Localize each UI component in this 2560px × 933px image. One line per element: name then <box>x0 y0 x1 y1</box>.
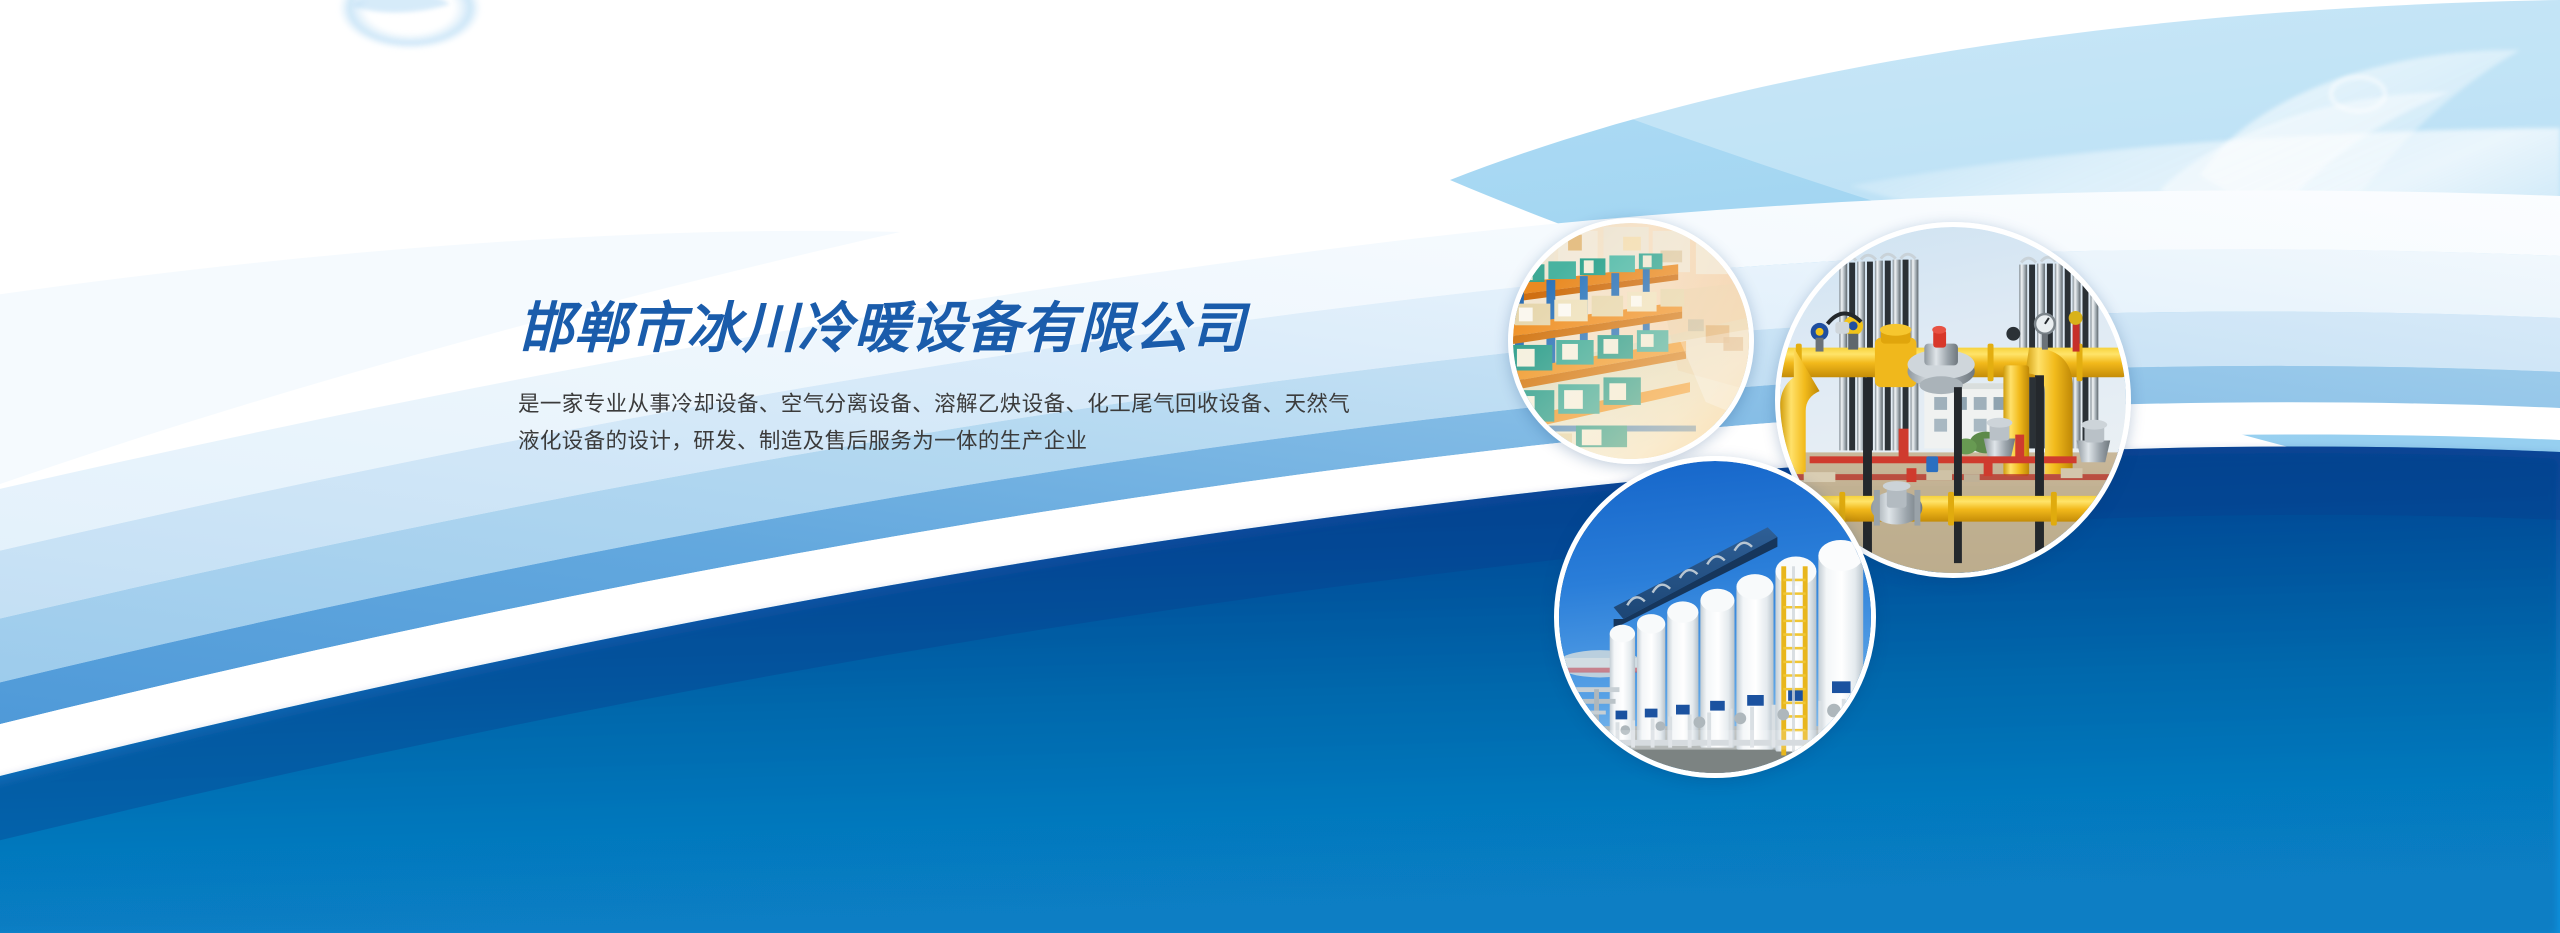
warehouse-racking-illustration <box>1513 223 1749 459</box>
cryogenic-storage-tanks-illustration <box>1559 461 1871 773</box>
support-column-3 <box>2035 375 2044 563</box>
background-wave-graphic <box>0 0 2560 933</box>
access-ladder <box>1781 566 1807 755</box>
company-description: 是一家专业从事冷却设备、空气分离设备、溶解乙炔设备、化工尾气回收设备、天然气 液… <box>518 386 1508 460</box>
company-description-line-1: 是一家专业从事冷却设备、空气分离设备、溶解乙炔设备、化工尾气回收设备、天然气 <box>518 386 1508 423</box>
photo-tanks-inner <box>1559 461 1871 773</box>
photo-warehouse-inner <box>1513 223 1749 459</box>
company-title: 邯郸市冰川冷暖设备有限公司 <box>518 300 1518 358</box>
company-description-line-2: 液化设备的设计，研发、制造及售后服务为一体的生产企业 <box>518 423 1508 460</box>
photo-circle-cryogenic-tanks[interactable] <box>1554 456 1876 778</box>
photo-circle-warehouse[interactable] <box>1508 218 1754 464</box>
support-column-2 <box>1954 387 1962 563</box>
company-hero-banner: 邯郸市冰川冷暖设备有限公司 是一家专业从事冷却设备、空气分离设备、溶解乙炔设备、… <box>0 0 2560 933</box>
hero-text-block: 邯郸市冰川冷暖设备有限公司 是一家专业从事冷却设备、空气分离设备、溶解乙炔设备、… <box>518 300 1518 460</box>
